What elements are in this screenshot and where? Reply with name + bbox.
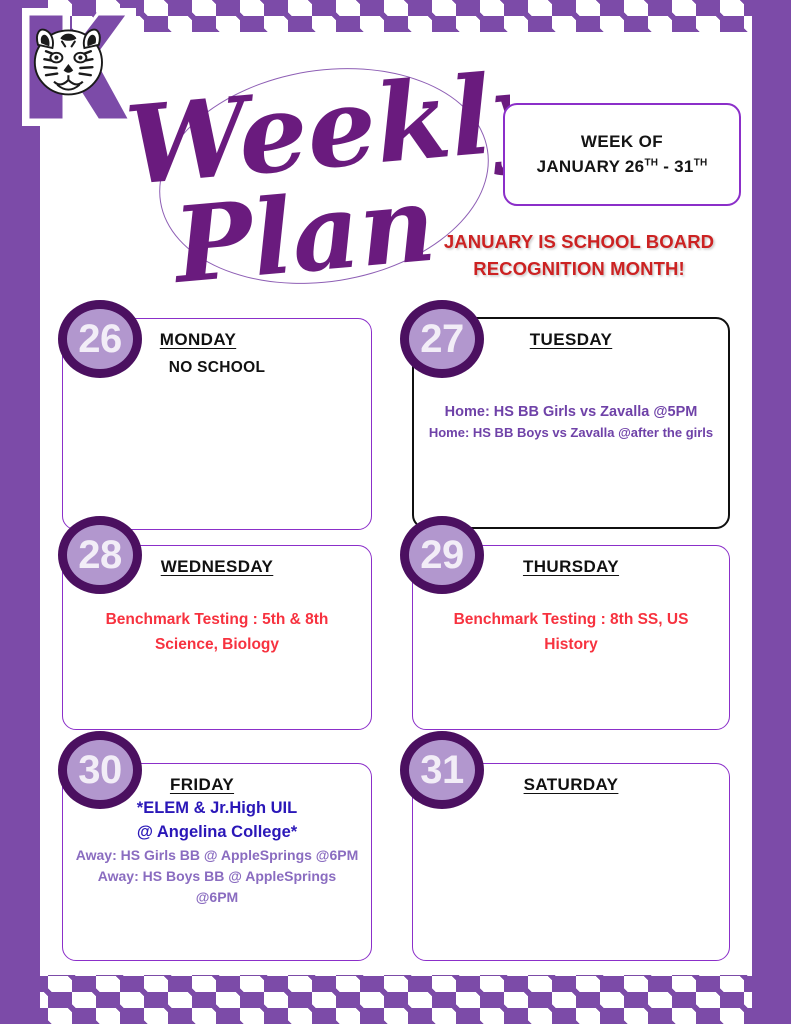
event-line: History xyxy=(425,633,717,658)
event-line: Science, Biology xyxy=(75,633,359,658)
day-events-thursday: Benchmark Testing : 8th SS, USHistory xyxy=(425,608,717,658)
weekly-plan-flyer: Weekly Plan WEEK OF JANUARY 26TH - 31TH … xyxy=(0,0,791,1024)
day-events-tuesday: Home: HS BB Girls vs Zavalla @5PMHome: H… xyxy=(426,401,716,443)
event-line: Benchmark Testing : 8th SS, US xyxy=(425,608,717,633)
day-card-grid: MONDAYNO SCHOOL26TUESDAYHome: HS BB Girl… xyxy=(0,0,791,1024)
event-line: @ Angelina College* xyxy=(75,821,359,845)
event-line: Home: HS BB Boys vs Zavalla @after the g… xyxy=(426,423,716,443)
day-events-wednesday: Benchmark Testing : 5th & 8thScience, Bi… xyxy=(75,608,359,658)
date-badge-28: 28 xyxy=(58,516,142,594)
event-line: Benchmark Testing : 5th & 8th xyxy=(75,608,359,633)
date-badge-30: 30 xyxy=(58,731,142,809)
date-badge-26: 26 xyxy=(58,300,142,378)
date-badge-31: 31 xyxy=(400,731,484,809)
event-line: Away: HS Boys BB @ AppleSprings @6PM xyxy=(75,866,359,909)
event-line: Home: HS BB Girls vs Zavalla @5PM xyxy=(426,401,716,423)
event-line: Away: HS Girls BB @ AppleSprings @6PM xyxy=(75,845,359,866)
date-badge-27: 27 xyxy=(400,300,484,378)
date-badge-29: 29 xyxy=(400,516,484,594)
day-events-friday: *ELEM & Jr.High UIL@ Angelina College*Aw… xyxy=(75,797,359,909)
